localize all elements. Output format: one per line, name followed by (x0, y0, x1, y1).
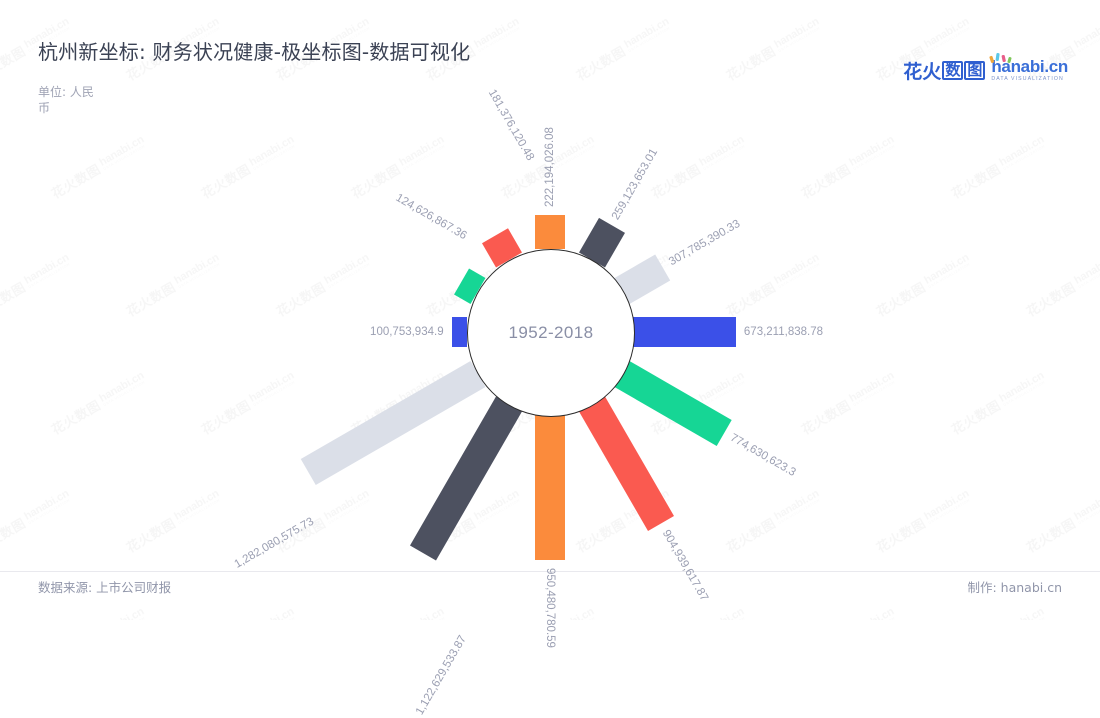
polar-bar-label: 100,753,934.9 (370, 326, 444, 338)
logo-tagline: DATA VISUALIZATION (991, 77, 1068, 82)
polar-bar[interactable] (452, 317, 467, 347)
polar-bar-label: 950,480,780.59 (544, 568, 556, 648)
chart-unit-subtitle: 单位: 人民币 (38, 84, 98, 116)
polar-bar[interactable] (579, 396, 674, 531)
logo-cn-part1: 花火 (903, 57, 941, 84)
polar-bar-label: 673,211,838.78 (744, 326, 823, 338)
polar-bar-label: 307,785,390.33 (667, 218, 742, 268)
page-title: 杭州新坐标: 财务状况健康-极坐标图-数据可视化 (38, 36, 470, 65)
polar-bar[interactable] (535, 215, 565, 249)
polar-bar-label: 1,122,629,533.87 (413, 634, 468, 718)
polar-bar[interactable] (614, 361, 732, 446)
polar-bar-label: 774,630,623.3 (728, 432, 798, 479)
logo-cn-part3: 图 (964, 61, 985, 80)
polar-bar-label: 904,939,617.87 (659, 528, 709, 603)
polar-bar-label: 181,376,120.48 (485, 88, 535, 163)
chart-center-circle: 1952-2018 (467, 249, 635, 417)
polar-bar[interactable] (633, 317, 736, 347)
polar-bar[interactable] (535, 415, 565, 560)
polar-bar-chart: 1952-2018 673,211,838.78774,630,623.3904… (0, 0, 1100, 620)
center-range-label: 1952-2018 (509, 323, 594, 343)
polar-bar-label: 124,626,867.36 (393, 192, 468, 242)
logo-chinese-mark: 花火数图 (903, 57, 985, 84)
polar-bar-label: 222,194,026.08 (544, 127, 556, 207)
brand-logo: 花火数图 hanabi.cn DATA VISUALIZATION (903, 56, 1068, 84)
data-source-text: 数据来源: 上市公司财报 (38, 577, 171, 596)
polar-bar-label: 259,123,653.01 (610, 147, 660, 222)
logo-cn-part2: 数 (942, 61, 963, 80)
credit-text: 制作: hanabi.cn (967, 577, 1062, 596)
polar-bar-label: 1,282,080,575.73 (233, 515, 317, 570)
logo-sparkles-icon (988, 52, 1014, 64)
